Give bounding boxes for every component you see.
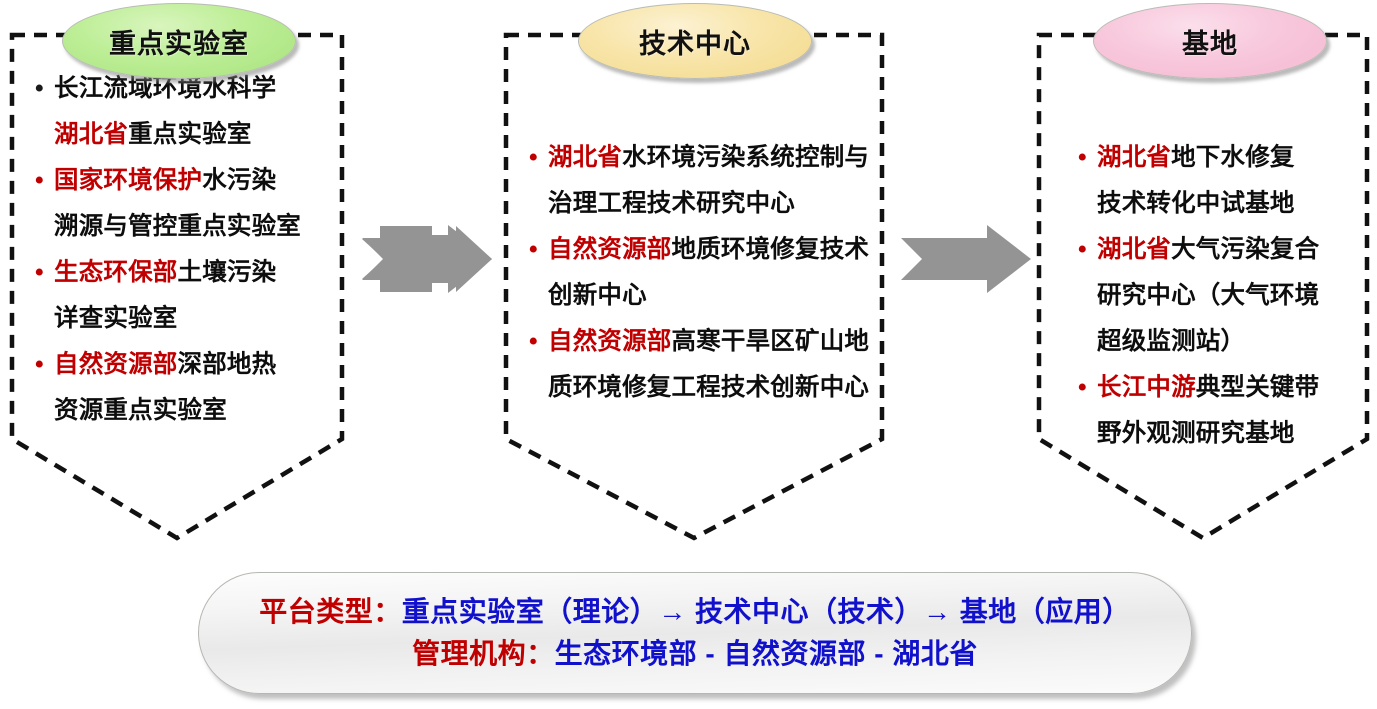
- platform-list-2: • 湖北省水环境污染系统控制与治理工程技术研究中心 • 自然资源部地质环境修复技…: [526, 135, 876, 411]
- item-text: 湖北省水环境污染系统控制与治理工程技术研究中心: [548, 144, 869, 217]
- list-item: • 湖北省地下水修复技术转化中试基地: [1075, 135, 1361, 227]
- bullet-icon: •: [529, 227, 538, 273]
- bullet-icon: •: [35, 250, 44, 296]
- diagram-canvas: • 长江流域环境水科学湖北省重点实验室 • 国家环境保护水污染溯源与管控重点实验…: [0, 0, 1377, 709]
- item-text: 生态环保部土壤污染详查实验室: [54, 259, 276, 332]
- list-item: • 长江中游典型关键带野外观测研究基地: [1075, 365, 1361, 457]
- bullet-icon: •: [35, 158, 44, 204]
- item-text: 湖北省地下水修复技术转化中试基地: [1097, 144, 1295, 217]
- list-item: • 湖北省大气污染复合研究中心（大气环境超级监测站）: [1075, 227, 1361, 365]
- list-item: • 长江流域环境水科学湖北省重点实验室: [32, 66, 336, 158]
- bullet-icon: •: [529, 135, 538, 181]
- bullet-icon: •: [1078, 365, 1087, 411]
- header-oval-label-3: 基地: [1182, 22, 1238, 61]
- bullet-icon: •: [1078, 227, 1087, 273]
- list-item: • 自然资源部地质环境修复技术创新中心: [526, 227, 876, 319]
- banner-line-2: 管理机构：生态环境部 - 自然资源部 - 湖北省: [412, 633, 978, 675]
- pentagon-column-1: • 长江流域环境水科学湖北省重点实验室 • 国家环境保护水污染溯源与管控重点实验…: [10, 33, 344, 541]
- item-text: 自然资源部高寒干旱区矿山地质环境修复工程技术创新中心: [548, 328, 869, 401]
- banner-line-1-label: 平台类型：: [259, 596, 402, 627]
- bullet-icon: •: [1078, 135, 1087, 181]
- list-item: • 生态环保部土壤污染详查实验室: [32, 250, 336, 342]
- banner-line-1: 平台类型：重点实验室（理论）→ 技术中心（技术）→ 基地（应用）: [259, 591, 1131, 633]
- item-text: 国家环境保护水污染溯源与管控重点实验室: [54, 167, 301, 240]
- flow-arrow-2: [901, 222, 1031, 296]
- header-oval-label-1: 重点实验室: [109, 22, 249, 61]
- list-item: • 自然资源部高寒干旱区矿山地质环境修复工程技术创新中心: [526, 319, 876, 411]
- item-text: 长江中游典型关键带野外观测研究基地: [1097, 374, 1319, 447]
- header-oval-tech-center[interactable]: 技术中心: [578, 3, 812, 79]
- summary-banner: 平台类型：重点实验室（理论）→ 技术中心（技术）→ 基地（应用） 管理机构：生态…: [198, 572, 1192, 694]
- list-item: • 自然资源部深部地热资源重点实验室: [32, 342, 336, 434]
- bullet-icon: •: [35, 342, 44, 388]
- item-text: 自然资源部地质环境修复技术创新中心: [548, 236, 869, 309]
- banner-line-1-text: 重点实验室（理论）→ 技术中心（技术）→ 基地（应用）: [402, 596, 1131, 627]
- banner-line-2-text: 生态环境部 - 自然资源部 - 湖北省: [555, 638, 978, 669]
- header-oval-key-lab[interactable]: 重点实验室: [62, 3, 296, 79]
- item-text: 自然资源部深部地热资源重点实验室: [54, 351, 276, 424]
- platform-list-1: • 长江流域环境水科学湖北省重点实验室 • 国家环境保护水污染溯源与管控重点实验…: [32, 66, 336, 434]
- platform-list-3: • 湖北省地下水修复技术转化中试基地 • 湖北省大气污染复合研究中心（大气环境超…: [1075, 135, 1361, 457]
- pentagon-column-2: • 湖北省水环境污染系统控制与治理工程技术研究中心 • 自然资源部地质环境修复技…: [504, 33, 884, 541]
- list-item: • 湖北省水环境污染系统控制与治理工程技术研究中心: [526, 135, 876, 227]
- flow-arrow-1: [362, 222, 492, 296]
- header-oval-base[interactable]: 基地: [1093, 3, 1327, 79]
- header-oval-label-2: 技术中心: [639, 22, 751, 61]
- item-text: 长江流域环境水科学湖北省重点实验室: [54, 75, 276, 148]
- pentagon-column-3: • 湖北省地下水修复技术转化中试基地 • 湖北省大气污染复合研究中心（大气环境超…: [1037, 33, 1369, 541]
- bullet-icon: •: [35, 66, 44, 112]
- banner-line-2-label: 管理机构：: [412, 638, 555, 669]
- bullet-icon: •: [529, 319, 538, 365]
- list-item: • 国家环境保护水污染溯源与管控重点实验室: [32, 158, 336, 250]
- item-text: 湖北省大气污染复合研究中心（大气环境超级监测站）: [1097, 236, 1319, 355]
